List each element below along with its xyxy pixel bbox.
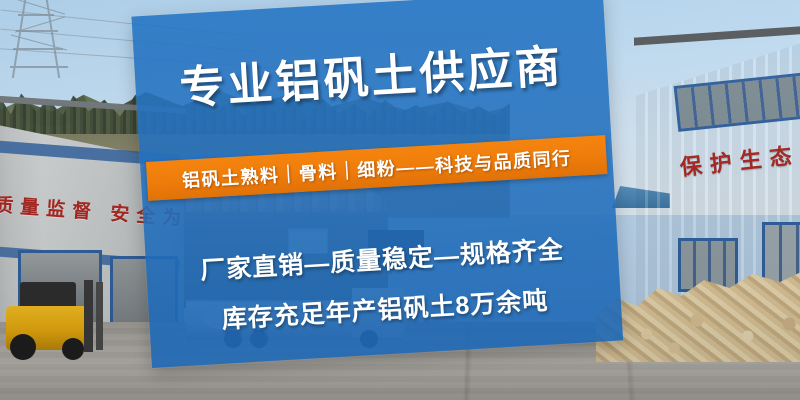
forklift-mast	[84, 280, 93, 352]
orange-ribbon: 铝矾土熟料｜骨料｜细粉——科技与品质同行	[146, 135, 607, 201]
blue-overlay-panel: 专业铝矾土供应商 铝矾土熟料｜骨料｜细粉——科技与品质同行 厂家直销—质量稳定—…	[131, 0, 623, 368]
forklift-wheel	[62, 338, 84, 360]
headline-text: 专业铝矾土供应商	[134, 41, 608, 114]
forklift-wheel	[10, 334, 36, 360]
banner-image: 质量监督 安全为首 保护生态 专业铝矾土供应商 铝矾土熟料｜骨料｜	[0, 0, 800, 400]
ribbon-text: 铝矾土熟料｜骨料｜细粉——科技与品质同行	[181, 144, 572, 193]
subheadline-line-2: 库存充足年产铝矾土8万余吨	[148, 277, 621, 341]
forklift-mast	[96, 282, 103, 350]
panel-content: 专业铝矾土供应商 铝矾土熟料｜骨料｜细粉——科技与品质同行 厂家直销—质量稳定—…	[131, 0, 623, 368]
